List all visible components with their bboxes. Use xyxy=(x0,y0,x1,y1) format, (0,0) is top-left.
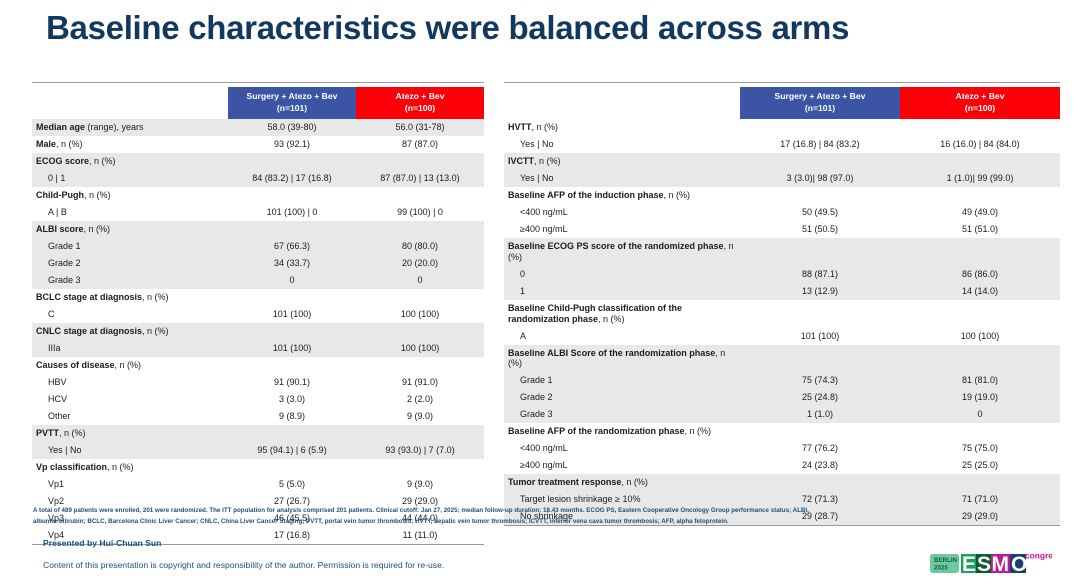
row-label-rest: , n (%) xyxy=(89,156,116,166)
row-sublabel: HBV xyxy=(32,374,228,391)
cell-arm-a xyxy=(228,289,356,306)
row-label-rest: , n (%) xyxy=(532,122,559,132)
row-sublabel: Grade 1 xyxy=(32,238,228,255)
table-row: 113 (12.9)14 (14.0) xyxy=(504,283,1060,300)
row-sublabel: 0 xyxy=(504,266,740,283)
row-category-label: Tumor treatment response, n (%) xyxy=(504,474,740,491)
row-sublabel: Grade 2 xyxy=(32,255,228,272)
table-row: Grade 31 (1.0)0 xyxy=(504,406,1060,423)
cell-arm-b: 99 (100) | 0 xyxy=(356,204,484,221)
table-row: Yes | No3 (3.0)| 98 (97.0)1 (1.0)| 99 (9… xyxy=(504,170,1060,187)
row-label-rest: , n (%) xyxy=(84,190,111,200)
cell-arm-b: 2 (2.0) xyxy=(356,391,484,408)
cell-arm-a: 34 (33.7) xyxy=(228,255,356,272)
row-label-bold: Child-Pugh xyxy=(36,190,84,200)
footnote-line-2: albumin-bilirubin; BCLC, Barcelona Clini… xyxy=(33,517,1049,528)
table-row: Baseline Child-Pugh classification of th… xyxy=(504,300,1060,328)
row-sublabel: Yes | No xyxy=(504,136,740,153)
cell-arm-b: 91 (91.0) xyxy=(356,374,484,391)
cell-arm-a: 17 (16.8) | 84 (83.2) xyxy=(740,136,900,153)
table-row: 0 | 184 (83.2) | 17 (16.8)87 (87.0) | 13… xyxy=(32,170,484,187)
row-sublabel: Grade 2 xyxy=(504,389,740,406)
cell-arm-b: 93 (93.0) | 7 (7.0) xyxy=(356,442,484,459)
svg-text:M: M xyxy=(992,553,1010,576)
row-sublabel: C xyxy=(32,306,228,323)
table-row: A | B101 (100) | 099 (100) | 0 xyxy=(32,204,484,221)
cell-arm-b: 11 (11.0) xyxy=(356,527,484,544)
slide-root: Baseline characteristics were balanced a… xyxy=(0,0,1080,586)
row-sublabel: <400 ng/mL xyxy=(504,440,740,457)
cell-arm-a: 1 (1.0) xyxy=(740,406,900,423)
cell-arm-a xyxy=(740,238,900,266)
row-category-label: Baseline ECOG PS score of the randomized… xyxy=(504,238,740,266)
row-label-bold: Baseline AFP of the randomization phase xyxy=(508,426,685,436)
row-category-label: HVTT, n (%) xyxy=(504,119,740,136)
row-category-label: Baseline Child-Pugh classification of th… xyxy=(504,300,740,328)
table-row: ALBI score, n (%) xyxy=(32,221,484,238)
row-label-rest: Yes | No xyxy=(48,445,82,455)
cell-arm-b xyxy=(900,345,1060,373)
svg-text:congress: congress xyxy=(1025,551,1052,561)
row-label-rest: Grade 1 xyxy=(48,241,81,251)
svg-text:2025: 2025 xyxy=(934,564,948,571)
table-body-right: HVTT, n (%)Yes | No17 (16.8) | 84 (83.2)… xyxy=(504,119,1060,526)
row-label-bold: HVTT xyxy=(508,122,532,132)
esmo-logo-svg: BERLIN 2025 E S M O congress xyxy=(930,549,1052,579)
row-category-label: Causes of disease, n (%) xyxy=(32,357,228,374)
arm-a-name-left: Surgery + Atezo + Bev xyxy=(230,91,354,103)
cell-arm-b xyxy=(356,459,484,476)
cell-arm-a: 25 (24.8) xyxy=(740,389,900,406)
row-label-rest: Grade 1 xyxy=(520,375,553,385)
row-category-label: Baseline AFP of the randomization phase,… xyxy=(504,423,740,440)
table-row: IVCTT, n (%) xyxy=(504,153,1060,170)
cell-arm-b xyxy=(900,474,1060,491)
cell-arm-b: 16 (16.0) | 84 (84.0) xyxy=(900,136,1060,153)
cell-arm-a: 95 (94.1) | 6 (5.9) xyxy=(228,442,356,459)
table-row: Baseline ECOG PS score of the randomized… xyxy=(504,238,1060,266)
row-category-label: Child-Pugh, n (%) xyxy=(32,187,228,204)
cell-arm-a: 101 (100) xyxy=(740,328,900,345)
row-label-rest: , n (%) xyxy=(142,326,169,336)
row-label-rest: <400 ng/mL xyxy=(520,443,568,453)
table-row: Baseline AFP of the randomization phase,… xyxy=(504,423,1060,440)
cell-arm-a: 77 (76.2) xyxy=(740,440,900,457)
table-row: Yes | No95 (94.1) | 6 (5.9)93 (93.0) | 7… xyxy=(32,442,484,459)
cell-arm-b: 0 xyxy=(900,406,1060,423)
row-label-rest: Grade 2 xyxy=(520,392,553,402)
cell-arm-a: 75 (74.3) xyxy=(740,372,900,389)
svg-text:E: E xyxy=(962,553,976,576)
table-row: ≥400 ng/mL24 (23.8)25 (25.0) xyxy=(504,457,1060,474)
cell-arm-a xyxy=(740,474,900,491)
cell-arm-b: 86 (86.0) xyxy=(900,266,1060,283)
cell-arm-b: 0 xyxy=(356,272,484,289)
cell-arm-b xyxy=(900,153,1060,170)
svg-text:S: S xyxy=(977,553,991,576)
cell-arm-b: 87 (87.0) | 13 (13.0) xyxy=(356,170,484,187)
cell-arm-b xyxy=(356,221,484,238)
page-title: Baseline characteristics were balanced a… xyxy=(46,9,849,47)
table-row: CNLC stage at diagnosis, n (%) xyxy=(32,323,484,340)
row-label-bold: PVTT xyxy=(36,428,59,438)
row-label-bold: Vp classification xyxy=(36,462,107,472)
row-sublabel: Other xyxy=(32,408,228,425)
arm-b-count-left: (n=100) xyxy=(358,103,482,115)
cell-arm-a: 91 (90.1) xyxy=(228,374,356,391)
arm-a-count-left: (n=101) xyxy=(230,103,354,115)
table-row: Grade 234 (33.7)20 (20.0) xyxy=(32,255,484,272)
row-label-bold: IVCTT xyxy=(508,156,534,166)
row-label-bold: Baseline AFP of the induction phase xyxy=(508,190,664,200)
row-label-rest: , n (%) xyxy=(84,224,111,234)
cell-arm-b: 51 (51.0) xyxy=(900,221,1060,238)
cell-arm-b xyxy=(356,425,484,442)
esmo-congress-logo: BERLIN 2025 E S M O congress xyxy=(930,549,1052,579)
cell-arm-b: 87 (87.0) xyxy=(356,136,484,153)
cell-arm-a: 101 (100) | 0 xyxy=(228,204,356,221)
cell-arm-b xyxy=(900,119,1060,136)
cell-arm-a: 24 (23.8) xyxy=(740,457,900,474)
cell-arm-a xyxy=(740,423,900,440)
cell-arm-a xyxy=(740,345,900,373)
cell-arm-b xyxy=(356,323,484,340)
row-label-rest: , n (%) xyxy=(56,139,83,149)
table-row: Child-Pugh, n (%) xyxy=(32,187,484,204)
table-row: BCLC stage at diagnosis, n (%) xyxy=(32,289,484,306)
row-label-rest: A xyxy=(520,331,526,341)
table-row: Grade 175 (74.3)81 (81.0) xyxy=(504,372,1060,389)
row-label-bold: CNLC stage at diagnosis xyxy=(36,326,142,336)
cell-arm-b: 25 (25.0) xyxy=(900,457,1060,474)
cell-arm-b xyxy=(900,187,1060,204)
row-sublabel: 1 xyxy=(504,283,740,300)
table-row: Yes | No17 (16.8) | 84 (83.2)16 (16.0) |… xyxy=(504,136,1060,153)
row-label-bold: Baseline ALBI Score of the randomization… xyxy=(508,348,715,358)
row-label-rest: , n (%) xyxy=(59,428,86,438)
cell-arm-a xyxy=(228,425,356,442)
row-sublabel: ≥400 ng/mL xyxy=(504,221,740,238)
cell-arm-b xyxy=(356,187,484,204)
cell-arm-b: 1 (1.0)| 99 (99.0) xyxy=(900,170,1060,187)
baseline-table-left: Surgery + Atezo + Bev (n=101) Atezo + Be… xyxy=(32,82,484,545)
cell-arm-a: 58.0 (39-80) xyxy=(228,119,356,136)
row-sublabel: Grade 3 xyxy=(504,406,740,423)
table-row: <400 ng/mL50 (49.5)49 (49.0) xyxy=(504,204,1060,221)
row-label-bold: ECOG score xyxy=(36,156,89,166)
row-sublabel: IIIa xyxy=(32,340,228,357)
cell-arm-a xyxy=(740,187,900,204)
table-row: Other9 (8.9)9 (9.0) xyxy=(32,408,484,425)
table-row: Baseline ALBI Score of the randomization… xyxy=(504,345,1060,373)
table-row: Vp classification, n (%) xyxy=(32,459,484,476)
cell-arm-a xyxy=(740,153,900,170)
row-sublabel: A xyxy=(504,328,740,345)
row-label-bold: Tumor treatment response xyxy=(508,477,621,487)
row-category-label: PVTT, n (%) xyxy=(32,425,228,442)
cell-arm-a: 9 (8.9) xyxy=(228,408,356,425)
cell-arm-a xyxy=(228,221,356,238)
arm-b-name-left: Atezo + Bev xyxy=(358,91,482,103)
row-sublabel: A | B xyxy=(32,204,228,221)
table-header-left: Surgery + Atezo + Bev (n=101) Atezo + Be… xyxy=(32,83,484,120)
table-row: 088 (87.1)86 (86.0) xyxy=(504,266,1060,283)
cell-arm-b: 49 (49.0) xyxy=(900,204,1060,221)
row-label-rest: Vp1 xyxy=(48,479,64,489)
cell-arm-a xyxy=(740,119,900,136)
row-label-rest: , n (%) xyxy=(664,190,691,200)
row-label-bold: Causes of disease xyxy=(36,360,115,370)
row-category-label: Baseline AFP of the induction phase, n (… xyxy=(504,187,740,204)
row-sublabel: Yes | No xyxy=(32,442,228,459)
row-label-rest: , n (%) xyxy=(598,314,625,324)
cell-arm-b xyxy=(356,357,484,374)
row-label-rest: Yes | No xyxy=(520,139,554,149)
baseline-table-right: Surgery + Atezo + Bev (n=101) Atezo + Be… xyxy=(504,82,1060,545)
table-row: IIIa101 (100)100 (100) xyxy=(32,340,484,357)
row-sublabel: ≥400 ng/mL xyxy=(504,457,740,474)
row-label-rest: , n (%) xyxy=(107,462,134,472)
row-label-rest: ≥400 ng/mL xyxy=(520,224,567,234)
row-sublabel: Yes | No xyxy=(504,170,740,187)
table-row: HCV3 (3.0)2 (2.0) xyxy=(32,391,484,408)
cell-arm-b xyxy=(900,300,1060,328)
row-category-label: Male, n (%) xyxy=(32,136,228,153)
row-category-label: BCLC stage at diagnosis, n (%) xyxy=(32,289,228,306)
footnote-line-1: A total of 489 patients were enrolled, 2… xyxy=(33,506,1049,517)
row-label-rest: Grade 3 xyxy=(48,275,81,285)
row-category-label: Vp classification, n (%) xyxy=(32,459,228,476)
row-label-bold: Male xyxy=(36,139,56,149)
table-row: Grade 167 (66.3)80 (80.0) xyxy=(32,238,484,255)
table-body-left: Median age (range), years58.0 (39-80)56.… xyxy=(32,119,484,544)
table-row: Tumor treatment response, n (%) xyxy=(504,474,1060,491)
row-label-rest: <400 ng/mL xyxy=(520,207,568,217)
cell-arm-a: 88 (87.1) xyxy=(740,266,900,283)
cell-arm-b: 75 (75.0) xyxy=(900,440,1060,457)
row-sublabel: HCV xyxy=(32,391,228,408)
svg-text:BERLIN: BERLIN xyxy=(934,557,958,564)
cell-arm-a xyxy=(740,300,900,328)
row-label-rest: IIIa xyxy=(48,343,61,353)
cell-arm-a: 13 (12.9) xyxy=(740,283,900,300)
row-category-label: IVCTT, n (%) xyxy=(504,153,740,170)
row-label-bold: Baseline Child-Pugh classification of th… xyxy=(508,303,682,324)
row-sublabel: Vp1 xyxy=(32,476,228,493)
cell-arm-b: 9 (9.0) xyxy=(356,408,484,425)
table-row: Causes of disease, n (%) xyxy=(32,357,484,374)
table-row: HVTT, n (%) xyxy=(504,119,1060,136)
cell-arm-a: 17 (16.8) xyxy=(228,527,356,544)
row-category-label: ECOG score, n (%) xyxy=(32,153,228,170)
tables-region: Surgery + Atezo + Bev (n=101) Atezo + Be… xyxy=(0,82,1080,545)
row-label-rest: 1 xyxy=(520,286,525,296)
presented-by: Presented by Hui-Chuan Sun xyxy=(43,538,161,548)
row-label-rest: , n (%) xyxy=(115,360,142,370)
row-label-rest: Grade 2 xyxy=(48,258,81,268)
table-row: A101 (100)100 (100) xyxy=(504,328,1060,345)
table-row: PVTT, n (%) xyxy=(32,425,484,442)
cell-arm-b xyxy=(356,153,484,170)
table-row: ECOG score, n (%) xyxy=(32,153,484,170)
row-category-label: Baseline ALBI Score of the randomization… xyxy=(504,345,740,373)
table-row: Median age (range), years58.0 (39-80)56.… xyxy=(32,119,484,136)
row-label-rest: A | B xyxy=(48,207,67,217)
table-row: ≥400 ng/mL51 (50.5)51 (51.0) xyxy=(504,221,1060,238)
row-label-bold: ALBI score xyxy=(36,224,84,234)
row-category-label: Median age (range), years xyxy=(32,119,228,136)
row-label-rest: 0 | 1 xyxy=(48,173,65,183)
row-label-bold: Baseline ECOG PS score of the randomized… xyxy=(508,241,724,251)
row-label-rest: , n (%) xyxy=(142,292,169,302)
table-header-right: Surgery + Atezo + Bev (n=101) Atezo + Be… xyxy=(504,83,1060,120)
cell-arm-b: 19 (19.0) xyxy=(900,389,1060,406)
cell-arm-a: 51 (50.5) xyxy=(740,221,900,238)
cell-arm-a: 50 (49.5) xyxy=(740,204,900,221)
cell-arm-b: 100 (100) xyxy=(356,306,484,323)
table-row: Male, n (%)93 (92.1)87 (87.0) xyxy=(32,136,484,153)
cell-arm-b: 100 (100) xyxy=(900,328,1060,345)
cell-arm-b xyxy=(900,238,1060,266)
row-label-rest: Vp2 xyxy=(48,496,64,506)
cell-arm-a xyxy=(228,153,356,170)
row-label-rest: (range), years xyxy=(85,122,144,132)
cell-arm-b: 80 (80.0) xyxy=(356,238,484,255)
cell-arm-a xyxy=(228,459,356,476)
row-label-rest: Target lesion shrinkage ≥ 10% xyxy=(520,494,641,504)
cell-arm-a xyxy=(228,357,356,374)
row-label-rest: Yes | No xyxy=(520,173,554,183)
cell-arm-b: 100 (100) xyxy=(356,340,484,357)
row-label-rest: Grade 3 xyxy=(520,409,553,419)
table-row: HBV91 (90.1)91 (91.0) xyxy=(32,374,484,391)
row-sublabel: 0 | 1 xyxy=(32,170,228,187)
row-sublabel: Grade 1 xyxy=(504,372,740,389)
cell-arm-a xyxy=(228,323,356,340)
header-cell-arm-b-left: Atezo + Bev (n=100) xyxy=(356,87,484,119)
cell-arm-b: 20 (20.0) xyxy=(356,255,484,272)
row-label-rest: Other xyxy=(48,411,71,421)
cell-arm-b xyxy=(356,289,484,306)
header-cell-arm-a-left: Surgery + Atezo + Bev (n=101) xyxy=(228,87,356,119)
arm-b-count-right: (n=100) xyxy=(902,103,1058,115)
row-label-rest: , n (%) xyxy=(685,426,712,436)
row-label-rest: HCV xyxy=(48,394,67,404)
cell-arm-a: 101 (100) xyxy=(228,306,356,323)
cell-arm-a: 93 (92.1) xyxy=(228,136,356,153)
row-label-rest: 0 xyxy=(520,269,525,279)
cell-arm-a: 0 xyxy=(228,272,356,289)
cell-arm-a: 67 (66.3) xyxy=(228,238,356,255)
row-label-bold: Median age xyxy=(36,122,85,132)
arm-b-name-right: Atezo + Bev xyxy=(902,91,1058,103)
cell-arm-b: 81 (81.0) xyxy=(900,372,1060,389)
header-cell-arm-b-right: Atezo + Bev (n=100) xyxy=(900,87,1060,119)
cell-arm-a: 3 (3.0)| 98 (97.0) xyxy=(740,170,900,187)
cell-arm-b: 14 (14.0) xyxy=(900,283,1060,300)
cell-arm-a: 5 (5.0) xyxy=(228,476,356,493)
row-category-label: CNLC stage at diagnosis, n (%) xyxy=(32,323,228,340)
row-label-rest: ≥400 ng/mL xyxy=(520,460,567,470)
cell-arm-a: 84 (83.2) | 17 (16.8) xyxy=(228,170,356,187)
cell-arm-a: 101 (100) xyxy=(228,340,356,357)
table-row: Grade 225 (24.8)19 (19.0) xyxy=(504,389,1060,406)
table-row: Baseline AFP of the induction phase, n (… xyxy=(504,187,1060,204)
table-row: C101 (100)100 (100) xyxy=(32,306,484,323)
table-row: <400 ng/mL77 (76.2)75 (75.0) xyxy=(504,440,1060,457)
cell-arm-a: 3 (3.0) xyxy=(228,391,356,408)
header-cell-label-right xyxy=(504,87,740,119)
footnote: A total of 489 patients were enrolled, 2… xyxy=(33,506,1049,528)
row-label-rest: HBV xyxy=(48,377,67,387)
copyright-notice: Content of this presentation is copyrigh… xyxy=(43,560,444,570)
row-sublabel: <400 ng/mL xyxy=(504,204,740,221)
table-row: Grade 300 xyxy=(32,272,484,289)
header-cell-arm-a-right: Surgery + Atezo + Bev (n=101) xyxy=(740,87,900,119)
table-row: Vp15 (5.0)9 (9.0) xyxy=(32,476,484,493)
cell-arm-b xyxy=(900,423,1060,440)
cell-arm-a xyxy=(228,187,356,204)
row-label-rest: , n (%) xyxy=(621,477,648,487)
row-category-label: ALBI score, n (%) xyxy=(32,221,228,238)
row-label-rest: , n (%) xyxy=(534,156,561,166)
row-label-bold: BCLC stage at diagnosis xyxy=(36,292,142,302)
row-sublabel: Grade 3 xyxy=(32,272,228,289)
cell-arm-b: 56.0 (31-78) xyxy=(356,119,484,136)
arm-a-name-right: Surgery + Atezo + Bev xyxy=(742,91,898,103)
cell-arm-b: 9 (9.0) xyxy=(356,476,484,493)
arm-a-count-right: (n=101) xyxy=(742,103,898,115)
header-cell-label-left xyxy=(32,87,228,119)
row-label-rest: C xyxy=(48,309,55,319)
